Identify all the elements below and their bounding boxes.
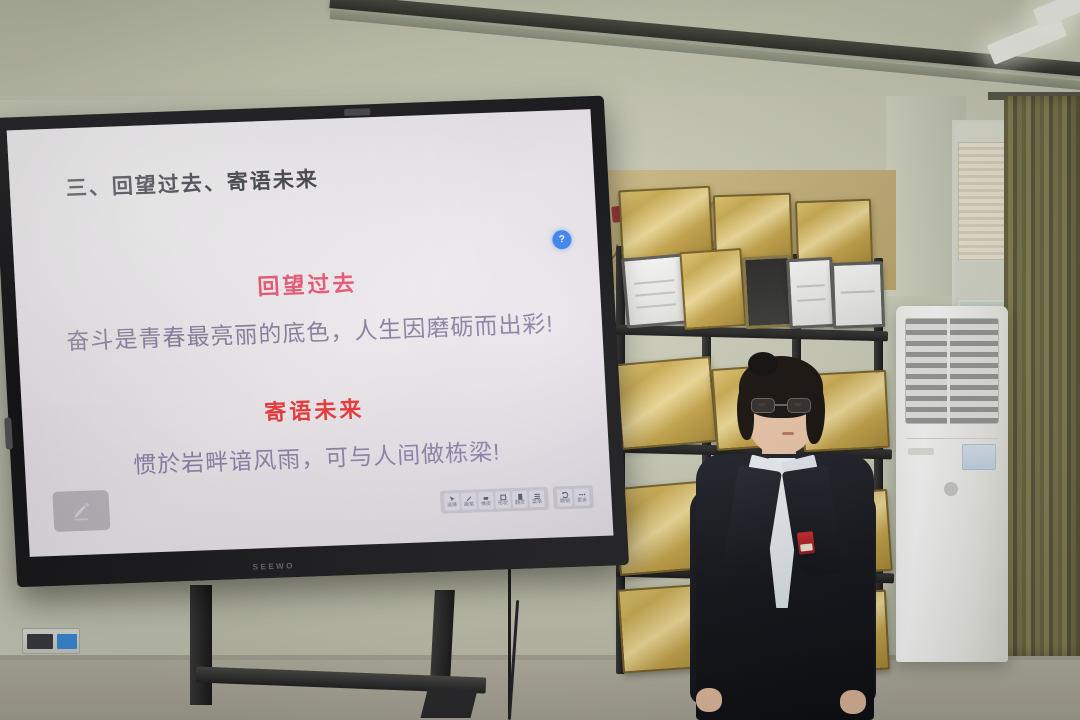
air-conditioner-badge <box>908 448 934 455</box>
hand <box>696 688 722 712</box>
gold-plaque <box>679 248 746 330</box>
glasses-icon <box>751 398 813 413</box>
slide-section-1: 回望过去 奋斗是青春最亮丽的底色，人生因磨砺而出彩! <box>15 261 603 358</box>
pen-icon[interactable]: 画笔 <box>461 492 477 510</box>
gold-plaque <box>795 199 873 268</box>
more-icon[interactable]: 更多 <box>574 488 590 506</box>
display-side-button[interactable] <box>4 417 13 449</box>
hair-bun <box>748 352 778 376</box>
air-conditioner <box>896 306 1008 662</box>
toolbar-group-b[interactable]: 撤销 更多 <box>553 485 594 509</box>
panel-button[interactable] <box>57 634 77 649</box>
list-icon[interactable]: 菜单 <box>529 490 545 508</box>
slide-section-2: 寄语未来 惯於岩畔谙风雨，可与人间做栋梁! <box>22 387 610 484</box>
floor <box>0 660 1080 720</box>
panel-display <box>27 634 53 649</box>
section-heading: 寄语未来 <box>22 387 607 437</box>
air-conditioner-logo-icon <box>944 482 958 496</box>
mouth <box>782 432 794 435</box>
photo-scene: 优秀毕业生实习实训基地 人才培养基地 <box>0 0 1080 720</box>
undo-icon[interactable]: 撤销 <box>557 489 573 507</box>
eraser-icon[interactable]: 橡皮 <box>478 492 494 510</box>
screen-glare <box>7 109 372 410</box>
help-label: ? <box>559 234 566 245</box>
air-conditioner-vents <box>905 318 999 424</box>
presenter <box>690 358 880 720</box>
hair-strand <box>806 382 825 444</box>
ir-sensor-icon <box>344 108 370 116</box>
wall-control-panel[interactable] <box>22 628 80 654</box>
stand-foot <box>421 690 478 718</box>
slide-title: 三、回望过去、寄语未来 <box>65 163 319 202</box>
gold-plaque <box>618 186 714 261</box>
name-badge <box>797 531 815 555</box>
pointer-icon[interactable]: 选择 <box>444 493 460 511</box>
display-brand-label: SEEWO <box>252 561 295 572</box>
shape-icon[interactable]: 形状 <box>495 491 511 509</box>
curtain <box>1004 96 1080 656</box>
hand <box>840 690 866 714</box>
panel-seam <box>906 438 998 439</box>
stand-column <box>190 585 212 705</box>
slide-annotation-toolbar[interactable]: 选择 画笔 橡皮 形状 <box>440 485 594 514</box>
page-icon[interactable]: 翻页 <box>512 491 528 509</box>
section-body: 奋斗是青春最亮丽的底色，人生因磨砺而出彩! <box>17 302 603 357</box>
interactive-whiteboard[interactable]: SEEWO 三、回望过去、寄语未来 回望过去 奋斗是青春最亮丽的底色，人生因磨砺… <box>0 96 629 588</box>
certificate-frame <box>621 253 689 328</box>
display-bezel: SEEWO 三、回望过去、寄语未来 回望过去 奋斗是青春最亮丽的底色，人生因磨砺… <box>0 96 629 588</box>
pen-tool-icon[interactable] <box>52 490 110 532</box>
energy-label <box>962 444 996 470</box>
toolbar-group-a[interactable]: 选择 画笔 橡皮 形状 <box>440 487 549 514</box>
section-heading: 回望过去 <box>15 261 600 311</box>
display-screen[interactable]: 三、回望过去、寄语未来 回望过去 奋斗是青春最亮丽的底色，人生因磨砺而出彩! 寄… <box>7 109 614 557</box>
certificate-frame <box>831 261 885 329</box>
certificate-frame <box>786 257 836 329</box>
vent-divider <box>947 318 950 424</box>
section-body: 惯於岩畔谙风雨，可与人间做栋梁! <box>24 428 610 483</box>
help-button[interactable]: ? <box>552 230 572 250</box>
